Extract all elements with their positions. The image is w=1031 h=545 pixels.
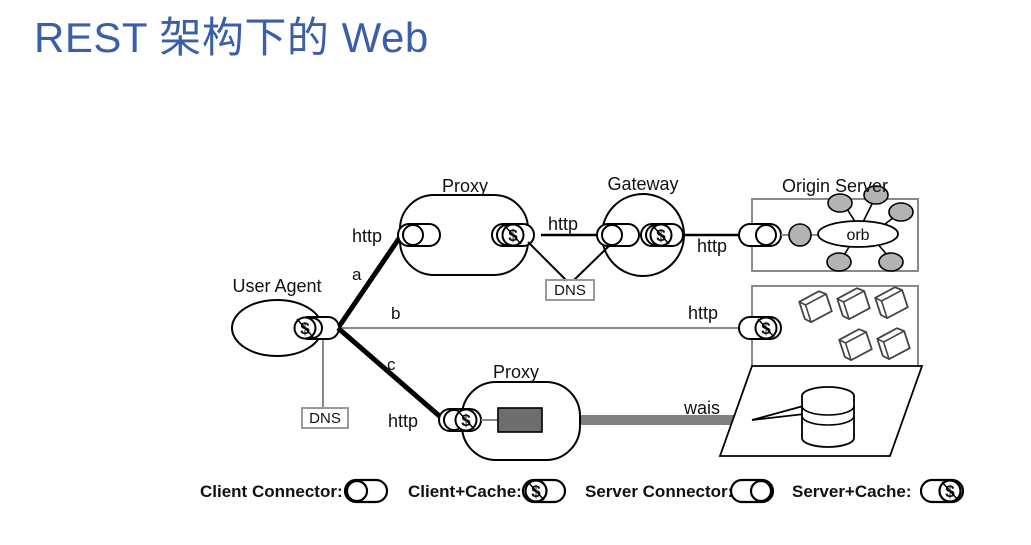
branch-label-b: b — [391, 304, 400, 323]
branch-c-line — [338, 328, 444, 420]
dns-link-proxy-gateway — [528, 242, 610, 282]
label-http-b-docstore: http — [688, 303, 718, 323]
server-connector-icon — [731, 480, 773, 502]
legend-label: Client Connector: — [200, 482, 343, 501]
node-proxy-top[interactable]: $ — [398, 195, 534, 275]
server-cache-icon: $ — [921, 480, 963, 502]
orb-label: orb — [846, 227, 869, 244]
rest-architecture-diagram: $ Proxy $ Gateway DNS orb — [0, 90, 1031, 545]
node-origin-server[interactable]: orb — [739, 186, 918, 271]
label-http-ua-proxy-bottom: http — [388, 411, 418, 431]
legend-item-client-connector: Client Connector: — [200, 480, 387, 502]
page-title: REST 架构下的 Web — [34, 4, 429, 65]
dns-box-label: DNS — [309, 410, 341, 427]
label-http-gateway-origin: http — [697, 236, 727, 256]
label-http-proxy-gateway: http — [548, 214, 578, 234]
label-user-agent: User Agent — [232, 276, 321, 296]
legend: Client Connector: Client+Cache: $ Server… — [200, 480, 963, 502]
label-origin-server: Origin Server — [782, 176, 888, 196]
legend-item-client-cache: Client+Cache: $ — [408, 480, 565, 502]
legend-label: Server Connector: — [585, 482, 733, 501]
dns-box-proxy-gateway[interactable]: DNS — [546, 280, 594, 300]
label-proxy-bottom: Proxy — [493, 362, 539, 382]
label-proxy-top: Proxy — [442, 176, 488, 196]
dns-box-user-agent[interactable]: DNS — [302, 408, 348, 428]
branch-label-a: a — [352, 265, 362, 284]
client-connector-icon — [345, 480, 387, 502]
node-proxy-bottom[interactable]: $ — [439, 382, 580, 460]
legend-label: Client+Cache: — [408, 482, 522, 501]
node-document-store[interactable]: $ — [739, 285, 918, 372]
dns-box-label: DNS — [554, 282, 586, 299]
branch-label-c: c — [387, 355, 396, 374]
label-http-ua-proxy: http — [352, 226, 382, 246]
legend-item-server-cache: Server+Cache: $ — [792, 480, 963, 502]
client-cache-icon: $ — [523, 480, 565, 502]
legend-item-server-connector: Server Connector: — [585, 480, 773, 502]
label-gateway: Gateway — [607, 174, 678, 194]
node-wais-store[interactable] — [720, 366, 922, 456]
legend-label: Server+Cache: — [792, 482, 912, 501]
label-wais: wais — [683, 398, 720, 418]
database-cylinder-icon — [802, 387, 854, 447]
node-gateway[interactable]: $ — [597, 194, 684, 276]
